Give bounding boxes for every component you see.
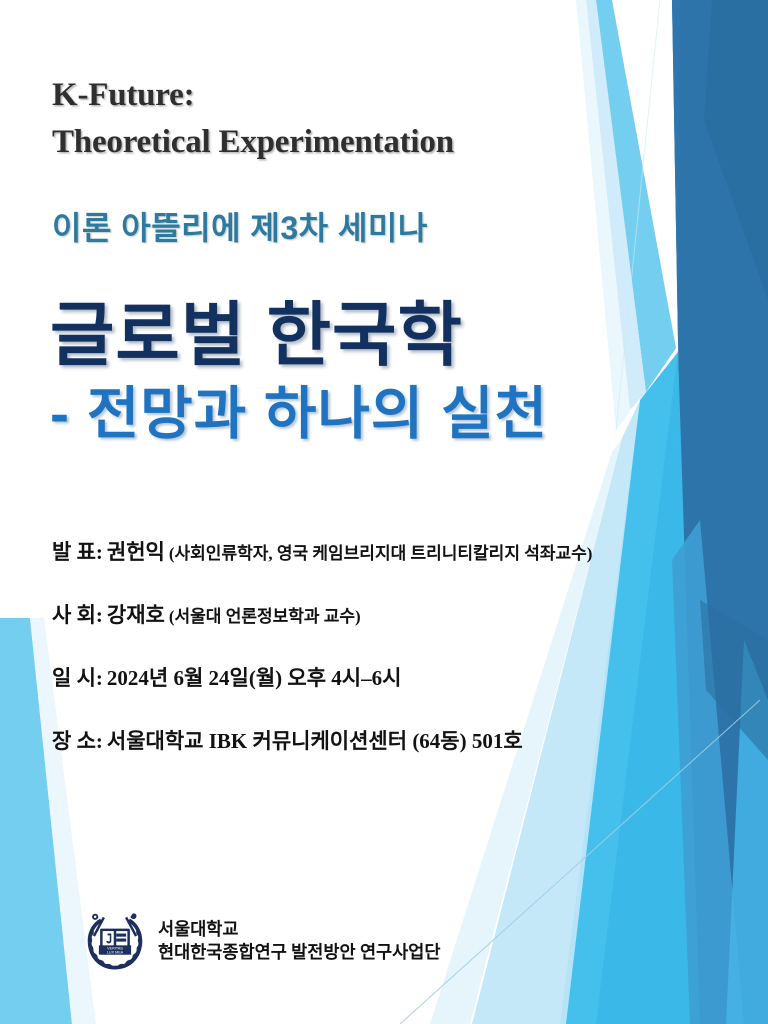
english-title-line2: Theoretical Experimentation — [52, 119, 652, 166]
footer-org-line2: 현대한국종합연구 발전방안 연구사업단 — [158, 941, 440, 964]
event-details: 발 표: 권헌익 (사회인류학자, 영국 케임브리지대 트리니티칼리지 석좌교수… — [52, 536, 752, 783]
detail-note: (서울대 언론정보학과 교수) — [169, 607, 361, 626]
detail-row-venue: 장 소: 서울대학교 IBK 커뮤니케이션센터 (64동) 501호 — [52, 725, 752, 755]
poster-root: K-Future: Theoretical Experimentation 이론… — [0, 0, 768, 1024]
snu-emblem-icon: VERITAS LUX MEA — [84, 910, 146, 972]
detail-row-moderator: 사 회: 강재호 (서울대 언론정보학과 교수) — [52, 599, 752, 629]
detail-value: 권헌익 — [107, 540, 165, 564]
detail-value: 서울대학교 IBK 커뮤니케이션센터 (64동) 501호 — [107, 729, 523, 753]
series-label: 이론 아뜰리에 제3차 세미나 — [52, 203, 428, 249]
detail-row-presenter: 발 표: 권헌익 (사회인류학자, 영국 케임브리지대 트리니티칼리지 석좌교수… — [52, 536, 752, 566]
detail-label: 일 시: — [52, 666, 103, 690]
detail-value: 2024년 6월 24일(월) 오후 4시–6시 — [107, 666, 402, 690]
english-title-line1: K-Future: — [52, 72, 652, 119]
footer-org-line1: 서울대학교 — [158, 918, 440, 941]
footer-org: 서울대학교 현대한국종합연구 발전방안 연구사업단 — [158, 918, 440, 965]
motto-line2: LUX MEA — [107, 951, 124, 955]
main-title-line1: 글로벌 한국학 — [50, 300, 548, 370]
detail-label: 사 회: — [52, 603, 103, 627]
main-title-line2: - 전망과 하나의 실천 — [50, 386, 548, 443]
footer: VERITAS LUX MEA 서울대학교 현대한국종합연구 발전방안 연구사업… — [84, 910, 440, 972]
poster-content: K-Future: Theoretical Experimentation 이론… — [0, 0, 768, 1024]
detail-value: 강재호 — [107, 603, 165, 627]
main-title: 글로벌 한국학 - 전망과 하나의 실천 — [50, 300, 548, 443]
detail-label: 발 표: — [52, 540, 103, 564]
english-title: K-Future: Theoretical Experimentation — [52, 72, 652, 166]
motto-line1: VERITAS — [107, 946, 123, 950]
detail-note: (사회인류학자, 영국 케임브리지대 트리니티칼리지 석좌교수) — [169, 544, 593, 563]
detail-label: 장 소: — [52, 729, 103, 753]
detail-row-datetime: 일 시: 2024년 6월 24일(월) 오후 4시–6시 — [52, 662, 752, 692]
motto-ribbon: VERITAS LUX MEA — [99, 945, 131, 954]
